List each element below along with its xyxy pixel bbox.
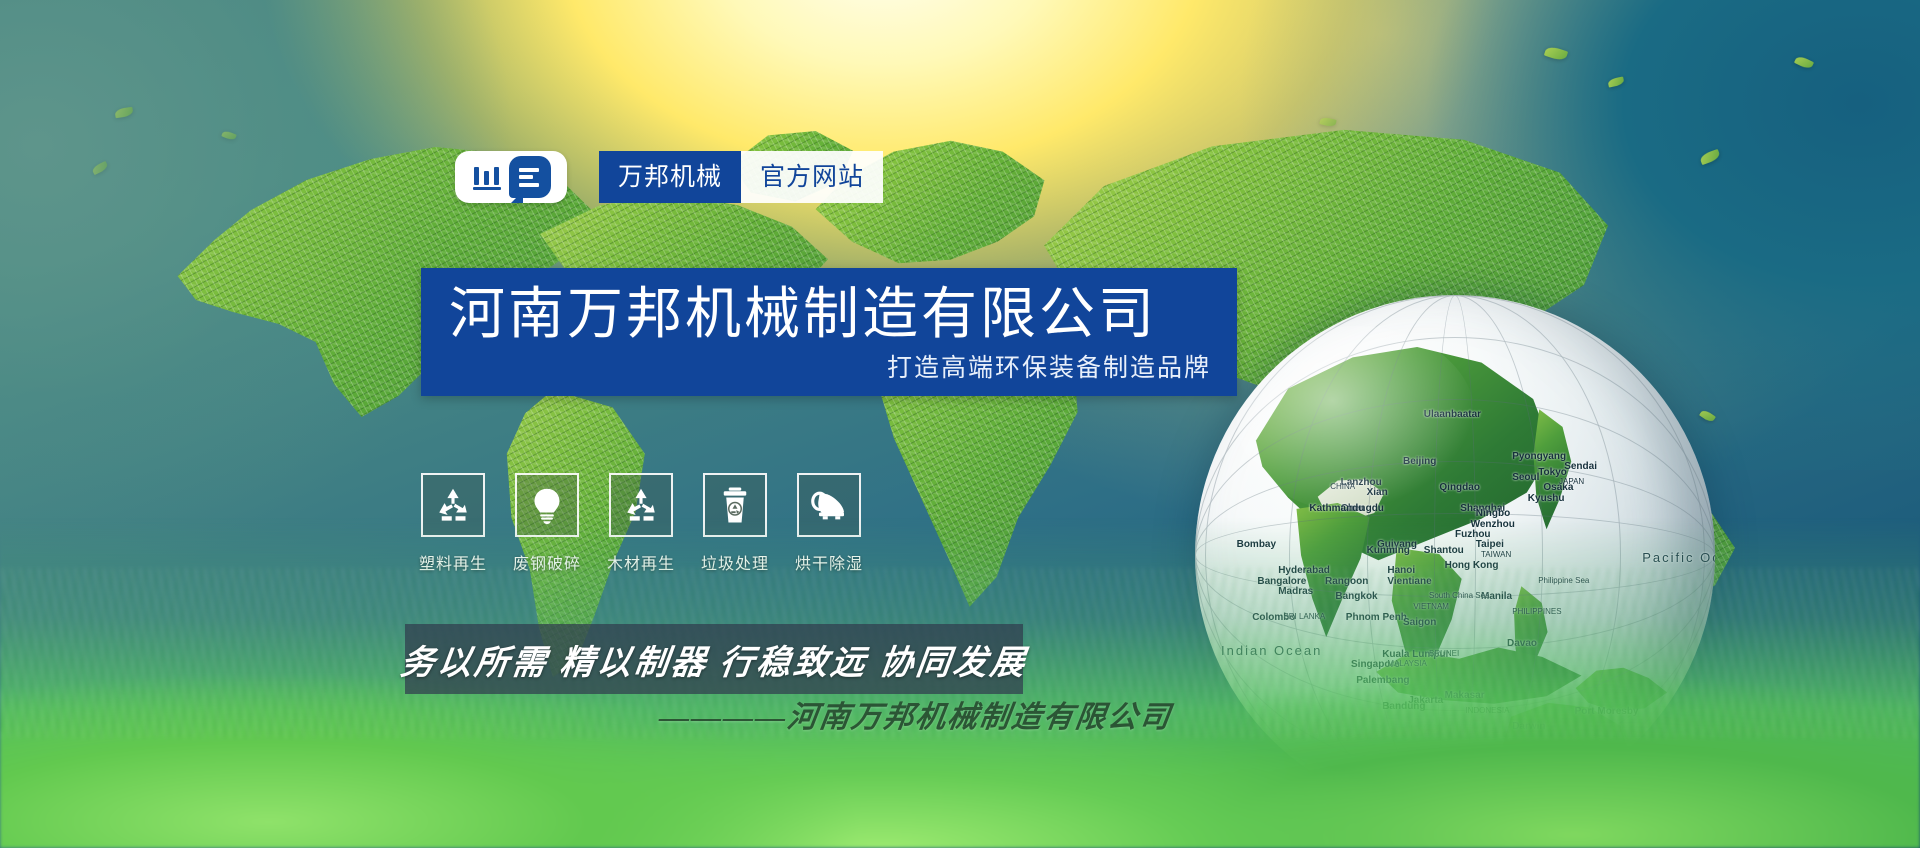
wb-logo[interactable] (455, 151, 567, 203)
nav-tabs: 万邦机械 官方网站 (599, 151, 883, 203)
page-title: 河南万邦机械制造有限公司 (449, 282, 1157, 346)
slogan-text: 务以所需 精以制器 行稳致远 协同发展 (398, 635, 1031, 684)
site-header: 万邦机械 官方网站 (455, 151, 883, 203)
slogan-bar: 务以所需 精以制器 行稳致远 协同发展 (405, 624, 1023, 694)
page-subtitle: 打造高端环保装备制造品牌 (887, 348, 1211, 384)
logo-w-mark (471, 162, 505, 192)
tab-brand[interactable]: 万邦机械 (599, 151, 741, 203)
logo-b-mark (509, 156, 551, 198)
slogan-signature: ————河南万邦机械制造有限公司 (657, 692, 1183, 736)
hero-banner-page: Pacific OceanIndian OceanBeijingShanghai… (0, 0, 1920, 848)
hero-title-banner: 河南万邦机械制造有限公司 打造高端环保装备制造品牌 (421, 268, 1237, 396)
tab-official-site[interactable]: 官方网站 (741, 151, 883, 203)
globe-highlight (1237, 326, 1476, 513)
